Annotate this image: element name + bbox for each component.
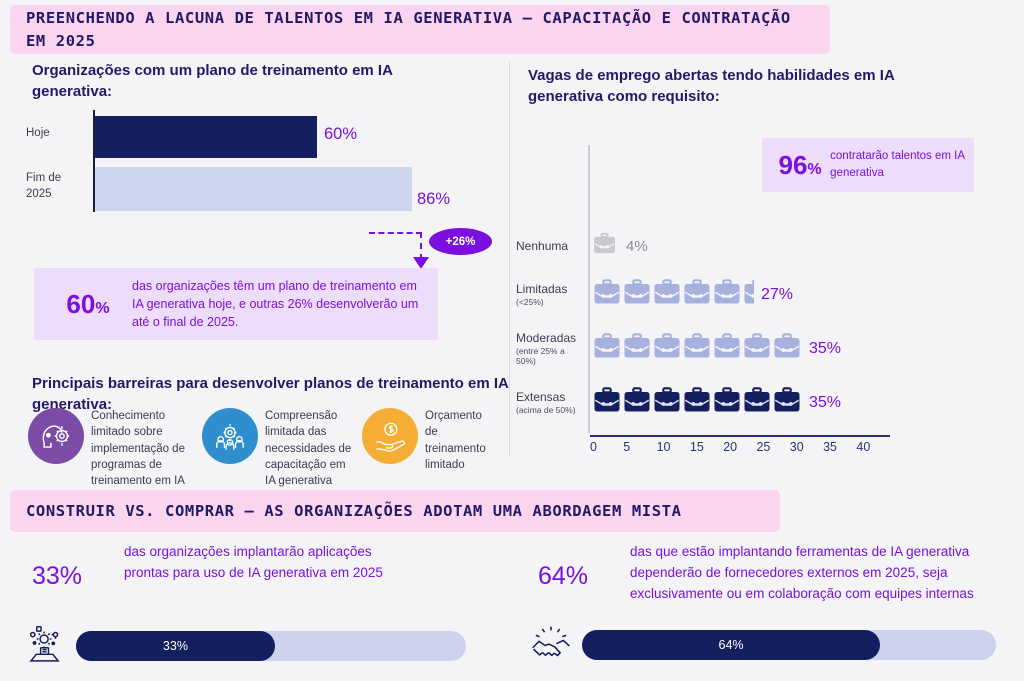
tick-label: 15	[690, 440, 723, 454]
top-banner-text: PREENCHENDO A LACUNA DE TALENTOS EM IA G…	[26, 7, 814, 52]
briefcase-icon	[712, 385, 742, 420]
bar-value-fim-2025: 86%	[417, 190, 450, 209]
tick-label: 5	[623, 440, 656, 454]
growth-badge: +26%	[429, 228, 492, 255]
stat-number: 33%	[14, 540, 124, 591]
briefcase-icon	[682, 277, 712, 312]
briefcase-icon	[742, 385, 772, 420]
picto-row-limitadas: Limitadas (<25%) 27%	[510, 277, 1010, 312]
tick-label: 20	[723, 440, 756, 454]
briefcase-icon-partial	[742, 277, 754, 312]
build-vs-buy-right: 64% das que estão implantando ferramenta…	[520, 540, 1014, 675]
connector-dashed-line	[369, 232, 422, 234]
stat-description: das organizações implantarão aplicações …	[124, 540, 404, 584]
callout-60-percent: 60% das organizações têm um plano de tre…	[34, 268, 438, 340]
bar-category-label: Hoje	[26, 126, 88, 142]
bottom-banner-text: CONSTRUIR VS. COMPRAR — AS ORGANIZAÇÕES …	[26, 500, 682, 522]
open-jobs-title: Vagas de emprego abertas tendo habilidad…	[528, 65, 928, 108]
briefcase-icon	[652, 277, 682, 312]
tick-label: 40	[856, 440, 889, 454]
callout-text: das organizações têm um plano de treinam…	[132, 277, 420, 331]
briefcase-icon	[622, 385, 652, 420]
pictogram-x-tick-labels: 0 5 10 15 20 25 30 35 40	[590, 440, 900, 454]
tick-label: 0	[590, 440, 623, 454]
barrier-label: Orçamento de treinamento limitado	[418, 408, 496, 473]
picto-value: 35%	[802, 340, 841, 358]
stat-bar-row: 33%	[14, 625, 484, 667]
briefcase-icon	[682, 331, 712, 366]
open-jobs-pictogram-chart: Nenhuma 4% Limitadas	[510, 145, 1010, 455]
bar-value-hoje: 60%	[324, 125, 357, 144]
training-plan-bar-chart: Hoje 60% Fim de 2025 86% +26%	[24, 110, 494, 215]
stat-head: 33% das organizações implantarão aplicaç…	[14, 540, 484, 591]
tick-label: 10	[657, 440, 690, 454]
bar-rect-fim-2025	[95, 167, 412, 211]
stat-description: das que estão implantando ferramentas de…	[630, 540, 1002, 605]
stat-bar-row: 64%	[520, 623, 1014, 667]
progress-track-33: 33%	[76, 631, 466, 661]
briefcase-icon	[682, 385, 712, 420]
picto-category: Limitadas (<25%)	[510, 282, 586, 306]
picto-value: 4%	[619, 238, 648, 255]
stat-number: 64%	[520, 540, 630, 591]
briefcase-icon	[712, 331, 742, 366]
picto-icons	[586, 277, 754, 312]
progress-fill-64: 64%	[582, 630, 880, 660]
bar-rect-hoje	[95, 116, 317, 158]
bottom-banner: CONSTRUIR VS. COMPRAR — AS ORGANIZAÇÕES …	[10, 490, 780, 532]
bar-category-label: Fim de 2025	[26, 171, 88, 202]
briefcase-icon	[622, 277, 652, 312]
picto-category: Extensas (acima de 50%)	[510, 390, 586, 414]
head-gear-icon	[28, 408, 84, 464]
right-panel: Vagas de emprego abertas tendo habilidad…	[510, 60, 1014, 460]
tick-label: 30	[790, 440, 823, 454]
picto-category: Nenhuma	[510, 239, 586, 253]
ai-network-icon	[14, 625, 76, 667]
picto-icons	[586, 385, 802, 420]
tick-label: 25	[756, 440, 789, 454]
left-panel: Organizações com um plano de treinamento…	[10, 60, 508, 460]
hand-coin-icon	[362, 408, 418, 464]
briefcase-icon	[772, 331, 802, 366]
briefcase-icon	[742, 331, 772, 366]
picto-icons	[586, 331, 802, 366]
callout-number: 60%	[44, 289, 132, 320]
build-vs-buy-left: 33% das organizações implantarão aplicaç…	[14, 540, 484, 675]
picto-row-nenhuma: Nenhuma 4%	[510, 231, 1010, 261]
picto-row-moderadas: Moderadas (entre 25% a 50%) 35%	[510, 331, 1010, 366]
picto-value: 27%	[754, 286, 793, 304]
barrier-label: Compreensão limitada das necessidades de…	[258, 408, 356, 490]
stat-head: 64% das que estão implantando ferramenta…	[520, 540, 1014, 605]
picto-category: Moderadas (entre 25% a 50%)	[510, 331, 586, 365]
briefcase-icon	[712, 277, 742, 312]
picto-icons	[586, 231, 619, 261]
percent-sign: %	[95, 300, 109, 317]
handshake-icon	[520, 623, 582, 667]
briefcase-icon	[622, 331, 652, 366]
progress-track-64: 64%	[582, 630, 996, 660]
pictogram-x-axis	[590, 435, 890, 437]
briefcase-icon	[652, 331, 682, 366]
picto-value: 35%	[802, 394, 841, 412]
briefcase-icon	[592, 385, 622, 420]
picto-row-extensas: Extensas (acima de 50%) 35%	[510, 385, 1010, 420]
briefcase-icon	[592, 331, 622, 366]
progress-fill-33: 33%	[76, 631, 275, 661]
tick-label: 35	[823, 440, 856, 454]
briefcase-icon	[592, 277, 622, 312]
connector-dashed-line-vertical	[420, 232, 422, 260]
briefcase-icon	[652, 385, 682, 420]
training-plan-title: Organizações com um plano de treinamento…	[32, 60, 452, 103]
people-gear-icon	[202, 408, 258, 464]
top-banner: PREENCHENDO A LACUNA DE TALENTOS EM IA G…	[10, 5, 830, 54]
briefcase-icon	[772, 385, 802, 420]
briefcase-icon	[592, 231, 617, 261]
